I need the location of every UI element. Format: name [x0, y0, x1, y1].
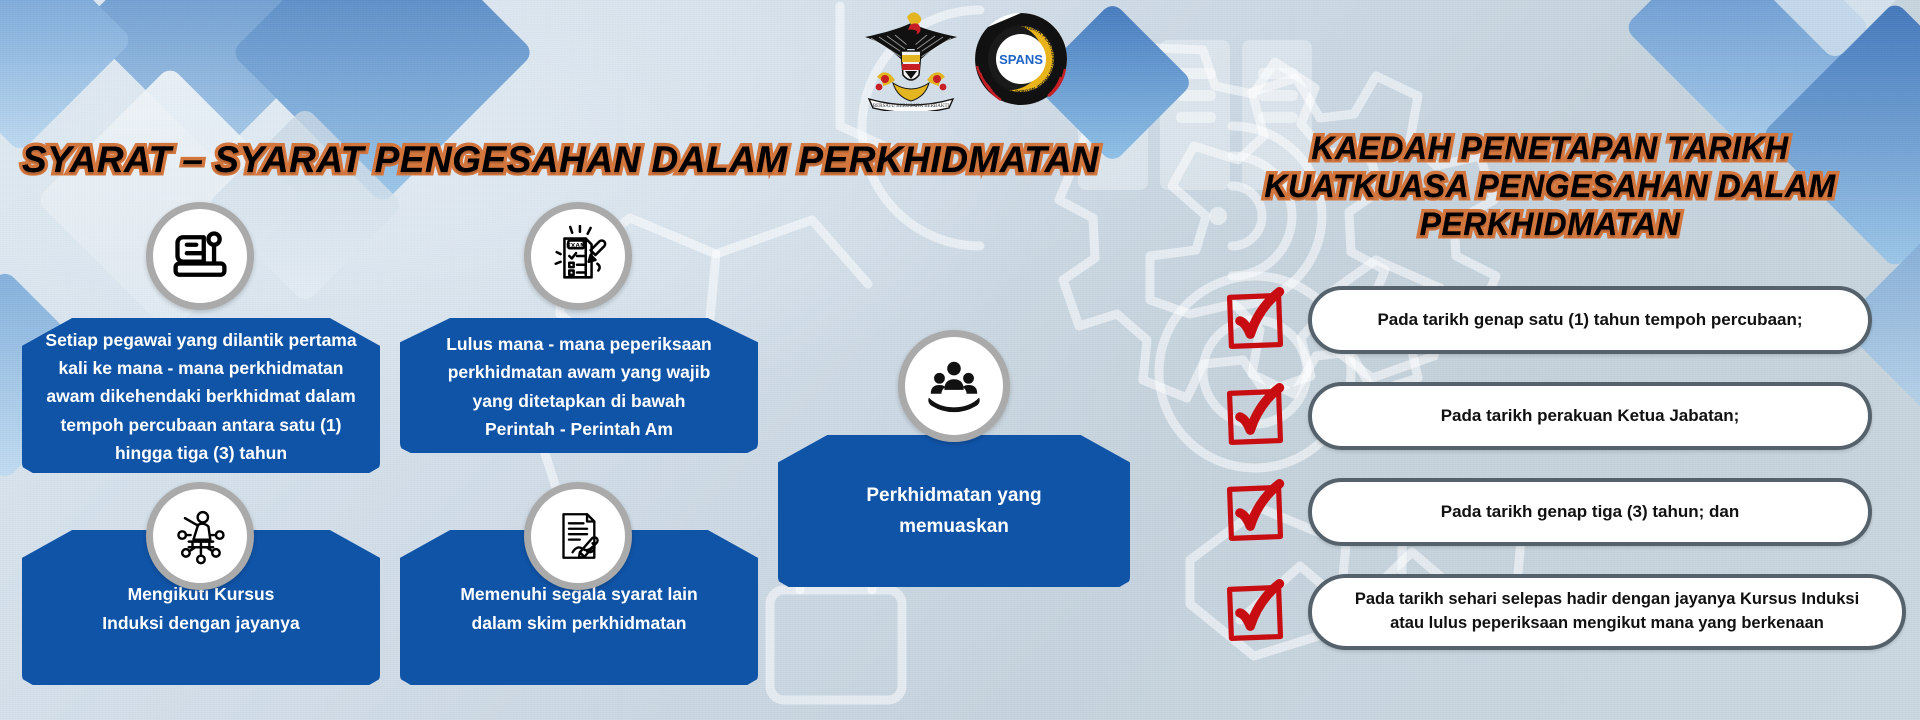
method-pill-1[interactable]: Pada tarikh genap satu (1) tahun tempoh … [1308, 286, 1872, 354]
checkbox-checked-icon[interactable] [1222, 383, 1288, 449]
spans-logo: SURUHANJAYA PERKHIDMATAN AWAM NEGERI SAR… [973, 11, 1069, 107]
document-stamp-icon [170, 226, 230, 286]
condition-card-2[interactable]: Lulus mana - mana peperiksaan perkhidmat… [400, 318, 758, 453]
left-panel-title: SYARAT – SYARAT PENGESAHAN DALAM PERKHID… [22, 138, 1032, 182]
method-pill-3[interactable]: Pada tarikh genap tiga (3) tahun; dan [1308, 478, 1872, 546]
checkbox-checked-icon[interactable] [1222, 479, 1288, 545]
condition-card-1-icon-badge [146, 202, 254, 310]
right-panel-title: KAEDAH PENETAPAN TARIKH KUATKUASA PENGES… [1200, 130, 1900, 260]
condition-card-4-icon-badge [524, 482, 632, 590]
checkbox-checked-icon[interactable] [1222, 287, 1288, 353]
method-row-4[interactable]: Pada tarikh sehari selepas hadir dengan … [1222, 574, 1906, 650]
method-row-2[interactable]: Pada tarikh perakuan Ketua Jabatan; [1222, 382, 1872, 450]
method-pill-1-text: Pada tarikh genap satu (1) tahun tempoh … [1377, 308, 1802, 333]
method-pill-4[interactable]: Pada tarikh sehari selepas hadir dengan … [1308, 574, 1906, 650]
condition-card-2-text: Lulus mana - mana peperiksaan perkhidmat… [446, 330, 712, 443]
training-presentation-icon [170, 506, 230, 566]
left-title-fill: SYARAT – SYARAT PENGESAHAN DALAM PERKHID… [22, 138, 1032, 182]
method-row-1[interactable]: Pada tarikh genap satu (1) tahun tempoh … [1222, 286, 1872, 354]
condition-card-5[interactable]: Perkhidmatan yang memuaskan [778, 435, 1130, 587]
condition-card-1-text: Setiap pegawai yang dilantik pertama kal… [45, 326, 356, 468]
condition-card-5-icon-badge [898, 330, 1010, 442]
method-row-3[interactable]: Pada tarikh genap tiga (3) tahun; dan [1222, 478, 1872, 546]
method-pill-2[interactable]: Pada tarikh perakuan Ketua Jabatan; [1308, 382, 1872, 450]
method-pill-3-text: Pada tarikh genap tiga (3) tahun; dan [1441, 500, 1739, 525]
method-pill-2-text: Pada tarikh perakuan Ketua Jabatan; [1441, 404, 1740, 429]
svg-text:BERSATU BERUSAHA BERBAKTI: BERSATU BERUSAHA BERBAKTI [873, 104, 950, 109]
svg-text:EXAM: EXAM [566, 242, 586, 249]
condition-card-5-text: Perkhidmatan yang memuaskan [866, 481, 1041, 543]
people-group-icon [923, 355, 985, 417]
method-pill-4-text: Pada tarikh sehari selepas hadir dengan … [1355, 588, 1859, 636]
right-title-fill: KAEDAH PENETAPAN TARIKH KUATKUASA PENGES… [1200, 130, 1900, 243]
sarawak-coat-of-arms: BERSATU BERUSAHA BERBAKTI [855, 7, 967, 111]
condition-card-1[interactable]: Setiap pegawai yang dilantik pertama kal… [22, 318, 380, 473]
spans-logo-text: SPANS [999, 52, 1043, 67]
emblem-group: BERSATU BERUSAHA BERBAKTI SURUHANJAYA PE… [855, 6, 1080, 111]
condition-card-2-icon-badge: EXAM [524, 202, 632, 310]
signature-document-icon [549, 507, 607, 565]
checkbox-checked-icon[interactable] [1222, 579, 1288, 645]
condition-card-3-icon-badge [146, 482, 254, 590]
exam-checklist-icon: EXAM [547, 225, 609, 287]
